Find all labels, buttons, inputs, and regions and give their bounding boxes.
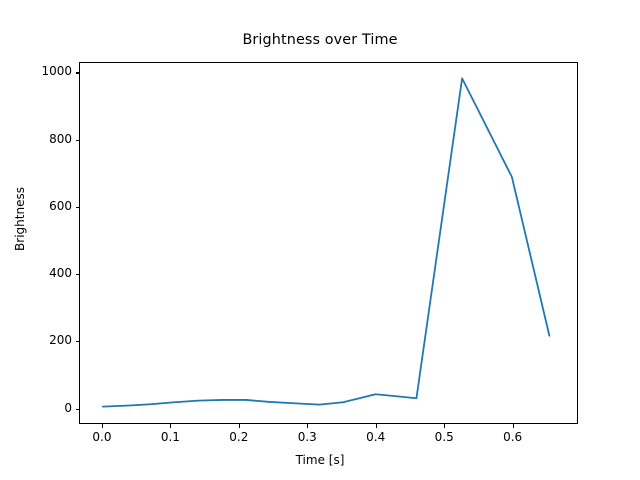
y-tick-label-text: 400 [22,267,72,279]
x-tick-label: 0.2 [209,430,269,444]
x-tick-mark [444,424,445,428]
x-tick-mark [170,424,171,428]
chart-title: Brightness over Time [0,32,640,48]
x-tick-label: 0.0 [72,430,132,444]
y-tick-label-text: 0 [22,402,72,414]
plot-area [79,62,578,424]
x-tick-mark [239,424,240,428]
x-tick-mark [307,424,308,428]
x-tick-label: 0.1 [140,430,200,444]
x-tick-label: 0.4 [346,430,406,444]
x-tick-mark [513,424,514,428]
x-tick-label: 0.5 [414,430,474,444]
x-tick-label: 0.3 [277,430,337,444]
matplotlib-figure: Brightness over Time Brightness Time [s]… [0,0,640,480]
x-tick-mark [102,424,103,428]
brightness-line-series [103,78,550,406]
x-tick-mark [376,424,377,428]
x-axis-label: Time [s] [0,453,640,467]
y-tick-label-text: 600 [22,200,72,212]
y-tick-label-text: 800 [22,133,72,145]
y-tick-label-text: 200 [22,334,72,346]
data-line-svg [80,63,577,423]
x-tick-label: 0.6 [483,430,543,444]
y-axis-label: Brightness [13,159,27,279]
y-tick-label-text: 1000 [22,65,72,77]
